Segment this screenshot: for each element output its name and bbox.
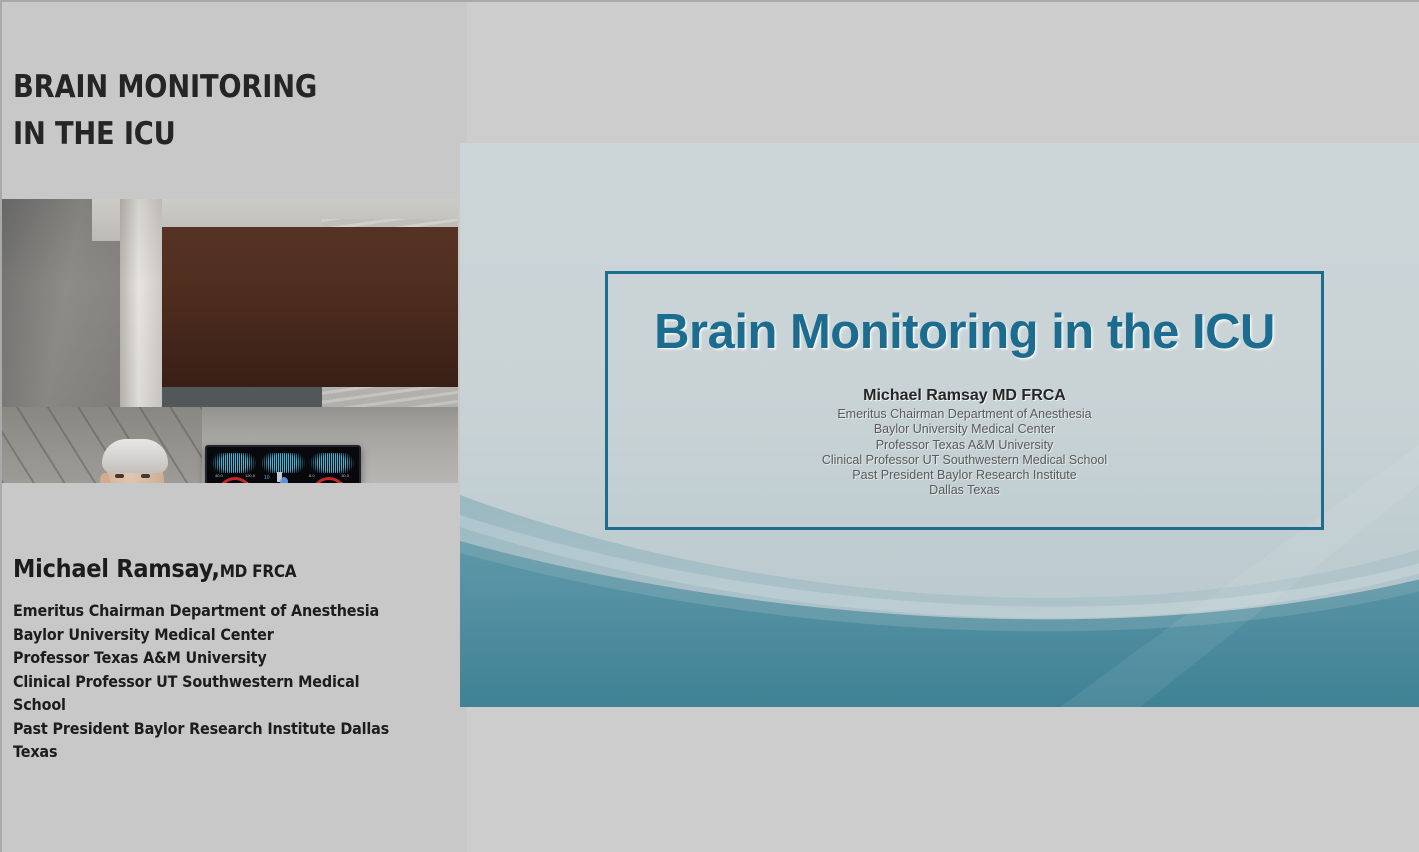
eeg-waveform-1: [211, 453, 257, 473]
slide-title: Brain Monitoring in the ICU: [608, 304, 1321, 360]
icu-room-photo: 40.0 120.0 81 bpm 40.0 120.0 67 mmHg: [2, 199, 458, 483]
patient-monitor-screen: 40.0 120.0 81 bpm 40.0 120.0 67 mmHg: [205, 445, 361, 483]
left-sidebar: BRAIN MONITORING IN THE ICU: [2, 2, 467, 852]
slide-byline: Michael Ramsay MD FRCA Emeritus Chairman…: [608, 386, 1321, 499]
waveform-strip-row: [211, 453, 355, 473]
author-credentials: MD FRCA: [220, 562, 297, 582]
eeg-waveform-2: [260, 453, 306, 473]
presentation-slide: Brain Monitoring in the ICU Michael Rams…: [460, 143, 1419, 707]
clinician-hair: [102, 439, 168, 473]
author-block: Michael Ramsay,MD FRCA Emeritus Chairman…: [13, 554, 457, 764]
patient-head-icon: [280, 477, 288, 483]
room-wood-wall: [162, 227, 458, 387]
slide-byline-affiliations: Emeritus Chairman Department of Anesthes…: [608, 407, 1321, 499]
page-root: BRAIN MONITORING IN THE ICU: [0, 0, 1419, 852]
monitor-gauge-top-right: 8.0 30.0 14 rpm: [311, 477, 347, 483]
page-title: BRAIN MONITORING IN THE ICU: [13, 64, 391, 158]
author-name: Michael Ramsay,MD FRCA: [13, 554, 413, 587]
monitor-gauge-top-left: 40.0 120.0 81 bpm: [217, 477, 253, 483]
room-floor-tiles: [2, 407, 202, 483]
eeg-waveform-3: [309, 453, 355, 473]
author-name-text: Michael Ramsay,: [13, 554, 220, 583]
photo-scene: 40.0 120.0 81 bpm 40.0 120.0 67 mmHg: [2, 199, 458, 483]
monitor-center-value: 10: [264, 475, 270, 481]
author-affiliations: Emeritus Chairman Department of Anesthes…: [13, 599, 413, 764]
clinician-ear: [100, 473, 110, 483]
slide-byline-name: Michael Ramsay MD FRCA: [608, 386, 1321, 406]
clinician-eye-right: [141, 474, 150, 478]
slide-title-box: Brain Monitoring in the ICU Michael Rams…: [605, 271, 1324, 530]
clinician-eye-left: [115, 474, 124, 478]
